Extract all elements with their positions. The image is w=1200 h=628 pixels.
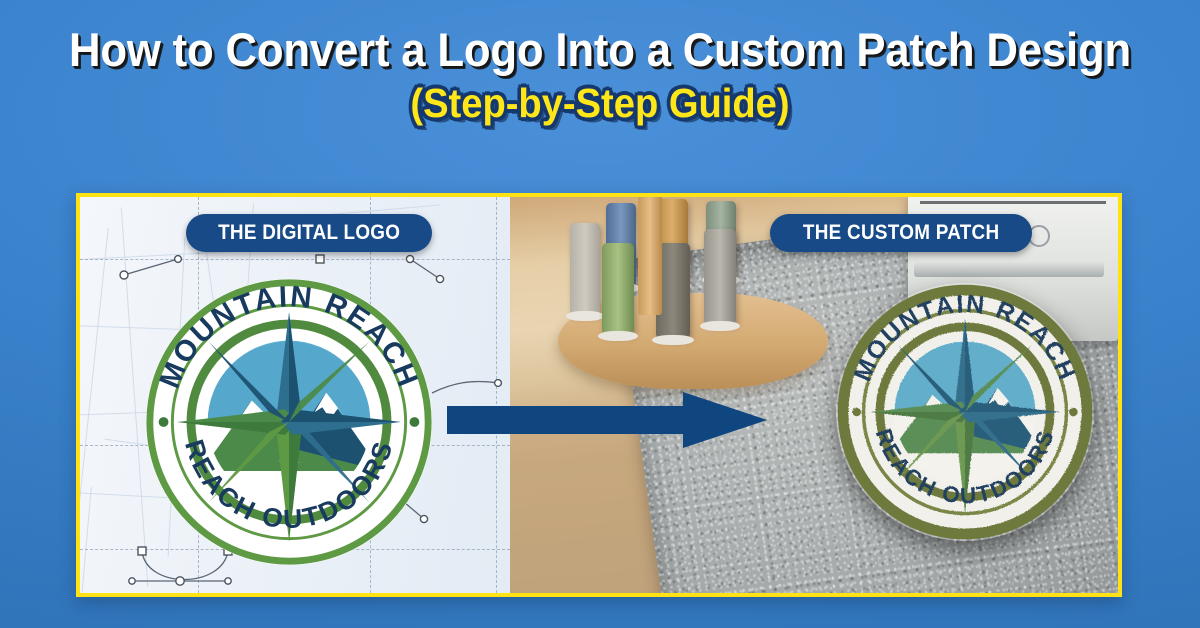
thread-spool [704, 229, 736, 325]
page-subtitle: (Step-by-Step Guide) [42, 82, 1158, 125]
digital-logo: MOUNTAIN REACH REACH OUTDOORS [142, 275, 436, 569]
badge-custom-patch: THE CUSTOM PATCH [770, 214, 1032, 252]
comparison-panel: MOUNTAIN REACH REACH OUTDOORS [76, 193, 1122, 597]
poster-canvas: How to Convert a Logo Into a Custom Patc… [0, 0, 1200, 628]
vector-editing-canvas: MOUNTAIN REACH REACH OUTDOORS [80, 197, 510, 593]
badge-custom-patch-label: THE CUSTOM PATCH [803, 221, 999, 245]
conversion-arrow [447, 392, 767, 448]
thread-spool [602, 243, 634, 335]
custom-patch: MOUNTAIN REACH REACH OUTDOORS [836, 283, 1094, 541]
title-block: How to Convert a Logo Into a Custom Patc… [0, 26, 1200, 125]
thread-spool [570, 223, 600, 315]
badge-digital-logo: THE DIGITAL LOGO [186, 214, 432, 252]
page-title: How to Convert a Logo Into a Custom Patc… [42, 26, 1158, 74]
badge-digital-logo-label: THE DIGITAL LOGO [218, 221, 400, 245]
